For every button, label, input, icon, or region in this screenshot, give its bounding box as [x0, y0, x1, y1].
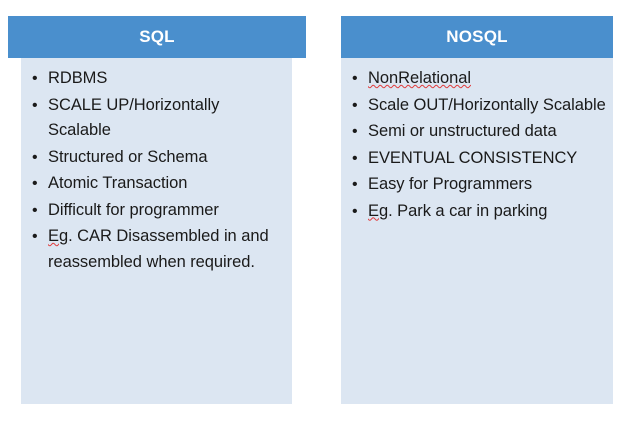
- bullet-item: Easy for Programmers: [347, 172, 607, 198]
- bullet-list-nosql: NonRelationalScale OUT/Horizontally Scal…: [347, 66, 607, 224]
- bullet-item: Scale OUT/Horizontally Scalable: [347, 93, 607, 119]
- comparison-column-sql: SQL RDBMSSCALE UP/Horizontally ScalableS…: [8, 16, 306, 404]
- spellcheck-misspelled-word: Eg: [48, 227, 68, 245]
- bullet-item: Difficult for programmer: [27, 198, 286, 224]
- bullet-item: NonRelational: [347, 66, 607, 92]
- bullet-item: Semi or unstructured data: [347, 119, 607, 145]
- bullet-item: Structured or Schema: [27, 145, 286, 171]
- bullet-item: SCALE UP/Horizontally Scalable: [27, 93, 286, 144]
- panel-body-sql: RDBMSSCALE UP/Horizontally ScalableStruc…: [21, 58, 292, 404]
- bullet-item: Eg. CAR Disassembled in and reassembled …: [27, 224, 286, 275]
- slide-canvas: SQL RDBMSSCALE UP/Horizontally ScalableS…: [0, 0, 624, 432]
- bullet-item: EVENTUAL CONSISTENCY: [347, 146, 607, 172]
- comparison-column-nosql: NOSQL NonRelationalScale OUT/Horizontall…: [341, 16, 613, 404]
- panel-header-nosql: NOSQL: [341, 16, 613, 58]
- bullet-item: RDBMS: [27, 66, 286, 92]
- spellcheck-misspelled-word: Eg: [368, 202, 388, 220]
- panel-header-sql: SQL: [8, 16, 306, 58]
- spellcheck-misspelled-word: NonRelational: [368, 69, 471, 87]
- bullet-item: Eg. Park a car in parking: [347, 199, 607, 225]
- bullet-item: Atomic Transaction: [27, 171, 286, 197]
- bullet-list-sql: RDBMSSCALE UP/Horizontally ScalableStruc…: [27, 66, 286, 275]
- panel-body-nosql: NonRelationalScale OUT/Horizontally Scal…: [341, 58, 613, 404]
